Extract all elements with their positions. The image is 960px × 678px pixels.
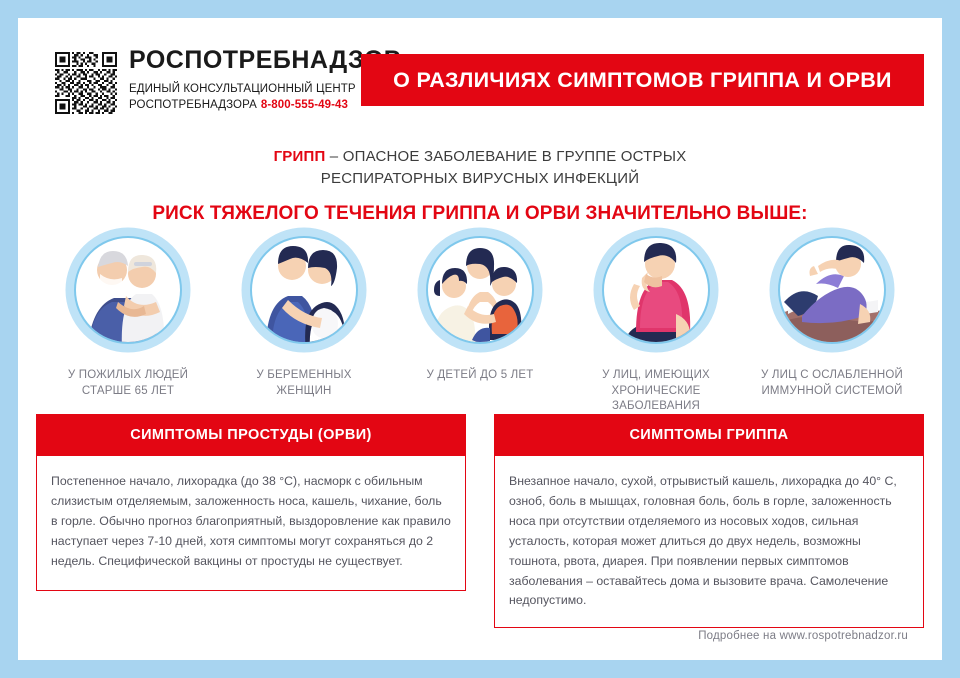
page-title: О РАЗЛИЧИЯХ СИМПТОМОВ ГРИППА И ОРВИ [393,68,892,93]
intro-section: ГРИПП – ОПАСНОЕ ЗАБОЛЕВАНИЕ В ГРУППЕ ОСТ… [18,146,942,225]
poster-card: РОСПОТРЕБНАДЗОР ЕДИНЫЙ КОНСУЛЬТАЦИОННЫЙ … [18,18,942,660]
panel-flu-symptoms: СИМПТОМЫ ГРИППА Внезапное начало, сухой,… [494,414,924,628]
panel-text: Постепенное начало, лихорадка (до 38 °С)… [51,472,451,572]
risk-group-children: У ДЕТЕЙ ДО 5 ЛЕТ [392,222,568,415]
risk-group-label: У ЛИЦ С ОСЛАБЛЕННОЙИММУННОЙ СИСТЕМОЙ [761,368,903,399]
intro-keyword: ГРИПП [274,148,326,165]
footer-note: Подробнее на www.rospotrebnadzor.ru [698,630,908,642]
risk-group-immune: У ЛИЦ С ОСЛАБЛЕННОЙИММУННОЙ СИСТЕМОЙ [744,222,920,415]
risk-group-label: У ЛИЦ, ИМЕЮЩИХХРОНИЧЕСКИЕ ЗАБОЛЕВАНИЯ [568,368,744,415]
risk-group-label: У ПОЖИЛЫХ ЛЮДЕЙСТАРШЕ 65 ЛЕТ [68,368,188,399]
intro-line-1: ГРИПП – ОПАСНОЕ ЗАБОЛЕВАНИЕ В ГРУППЕ ОСТ… [18,146,942,168]
panel-title: СИМПТОМЫ ПРОСТУДЫ (ОРВИ) [130,427,372,443]
symptom-panels: СИМПТОМЫ ПРОСТУДЫ (ОРВИ) Постепенное нач… [36,414,924,628]
risk-group-label: У ДЕТЕЙ ДО 5 ЛЕТ [426,368,533,384]
panel-text: Внезапное начало, сухой, отрывистый каше… [509,472,909,611]
panel-title: СИМПТОМЫ ГРИППА [629,427,788,443]
title-banner: О РАЗЛИЧИЯХ СИМПТОМОВ ГРИППА И ОРВИ [361,54,924,106]
pregnant-couple-illustration [236,222,372,358]
intro-line-1-rest: – ОПАСНОЕ ЗАБОЛЕВАНИЕ В ГРУППЕ ОСТРЫХ [325,148,686,165]
panel-cold-symptoms: СИМПТОМЫ ПРОСТУДЫ (ОРВИ) Постепенное нач… [36,414,466,628]
risk-group-chronic: У ЛИЦ, ИМЕЮЩИХХРОНИЧЕСКИЕ ЗАБОЛЕВАНИЯ [568,222,744,415]
panel-header-flu: СИМПТОМЫ ГРИППА [494,414,924,456]
panel-body-flu: Внезапное начало, сухой, отрывистый каше… [494,456,924,628]
risk-group-label: У БЕРЕМЕННЫХЖЕНЩИН [256,368,351,399]
elderly-couple-illustration [60,222,196,358]
risk-group-elderly: У ПОЖИЛЫХ ЛЮДЕЙСТАРШЕ 65 ЛЕТ [40,222,216,415]
risk-groups-row: У ПОЖИЛЫХ ЛЮДЕЙСТАРШЕ 65 ЛЕТ [40,222,920,415]
qr-code-icon [55,52,117,114]
intro-line-2: РЕСПИРАТОРНЫХ ВИРУСНЫХ ИНФЕКЦИЙ [18,168,942,190]
man-with-chronic-illness-illustration [588,222,724,358]
hotline-phone: 8-800-555-49-43 [261,99,348,111]
brand-subtitle-line2: РОСПОТРЕБНАДЗОРА [129,99,257,111]
poster-header: РОСПОТРЕБНАДЗОР ЕДИНЫЙ КОНСУЛЬТАЦИОННЫЙ … [18,18,942,128]
mother-with-children-illustration [412,222,548,358]
risk-group-pregnant: У БЕРЕМЕННЫХЖЕНЩИН [216,222,392,415]
brand-logo-block: РОСПОТРЕБНАДЗОР ЕДИНЫЙ КОНСУЛЬТАЦИОННЫЙ … [55,46,401,114]
person-resting-in-bed-illustration [764,222,900,358]
panel-body-cold: Постепенное начало, лихорадка (до 38 °С)… [36,456,466,591]
panel-header-cold: СИМПТОМЫ ПРОСТУДЫ (ОРВИ) [36,414,466,456]
